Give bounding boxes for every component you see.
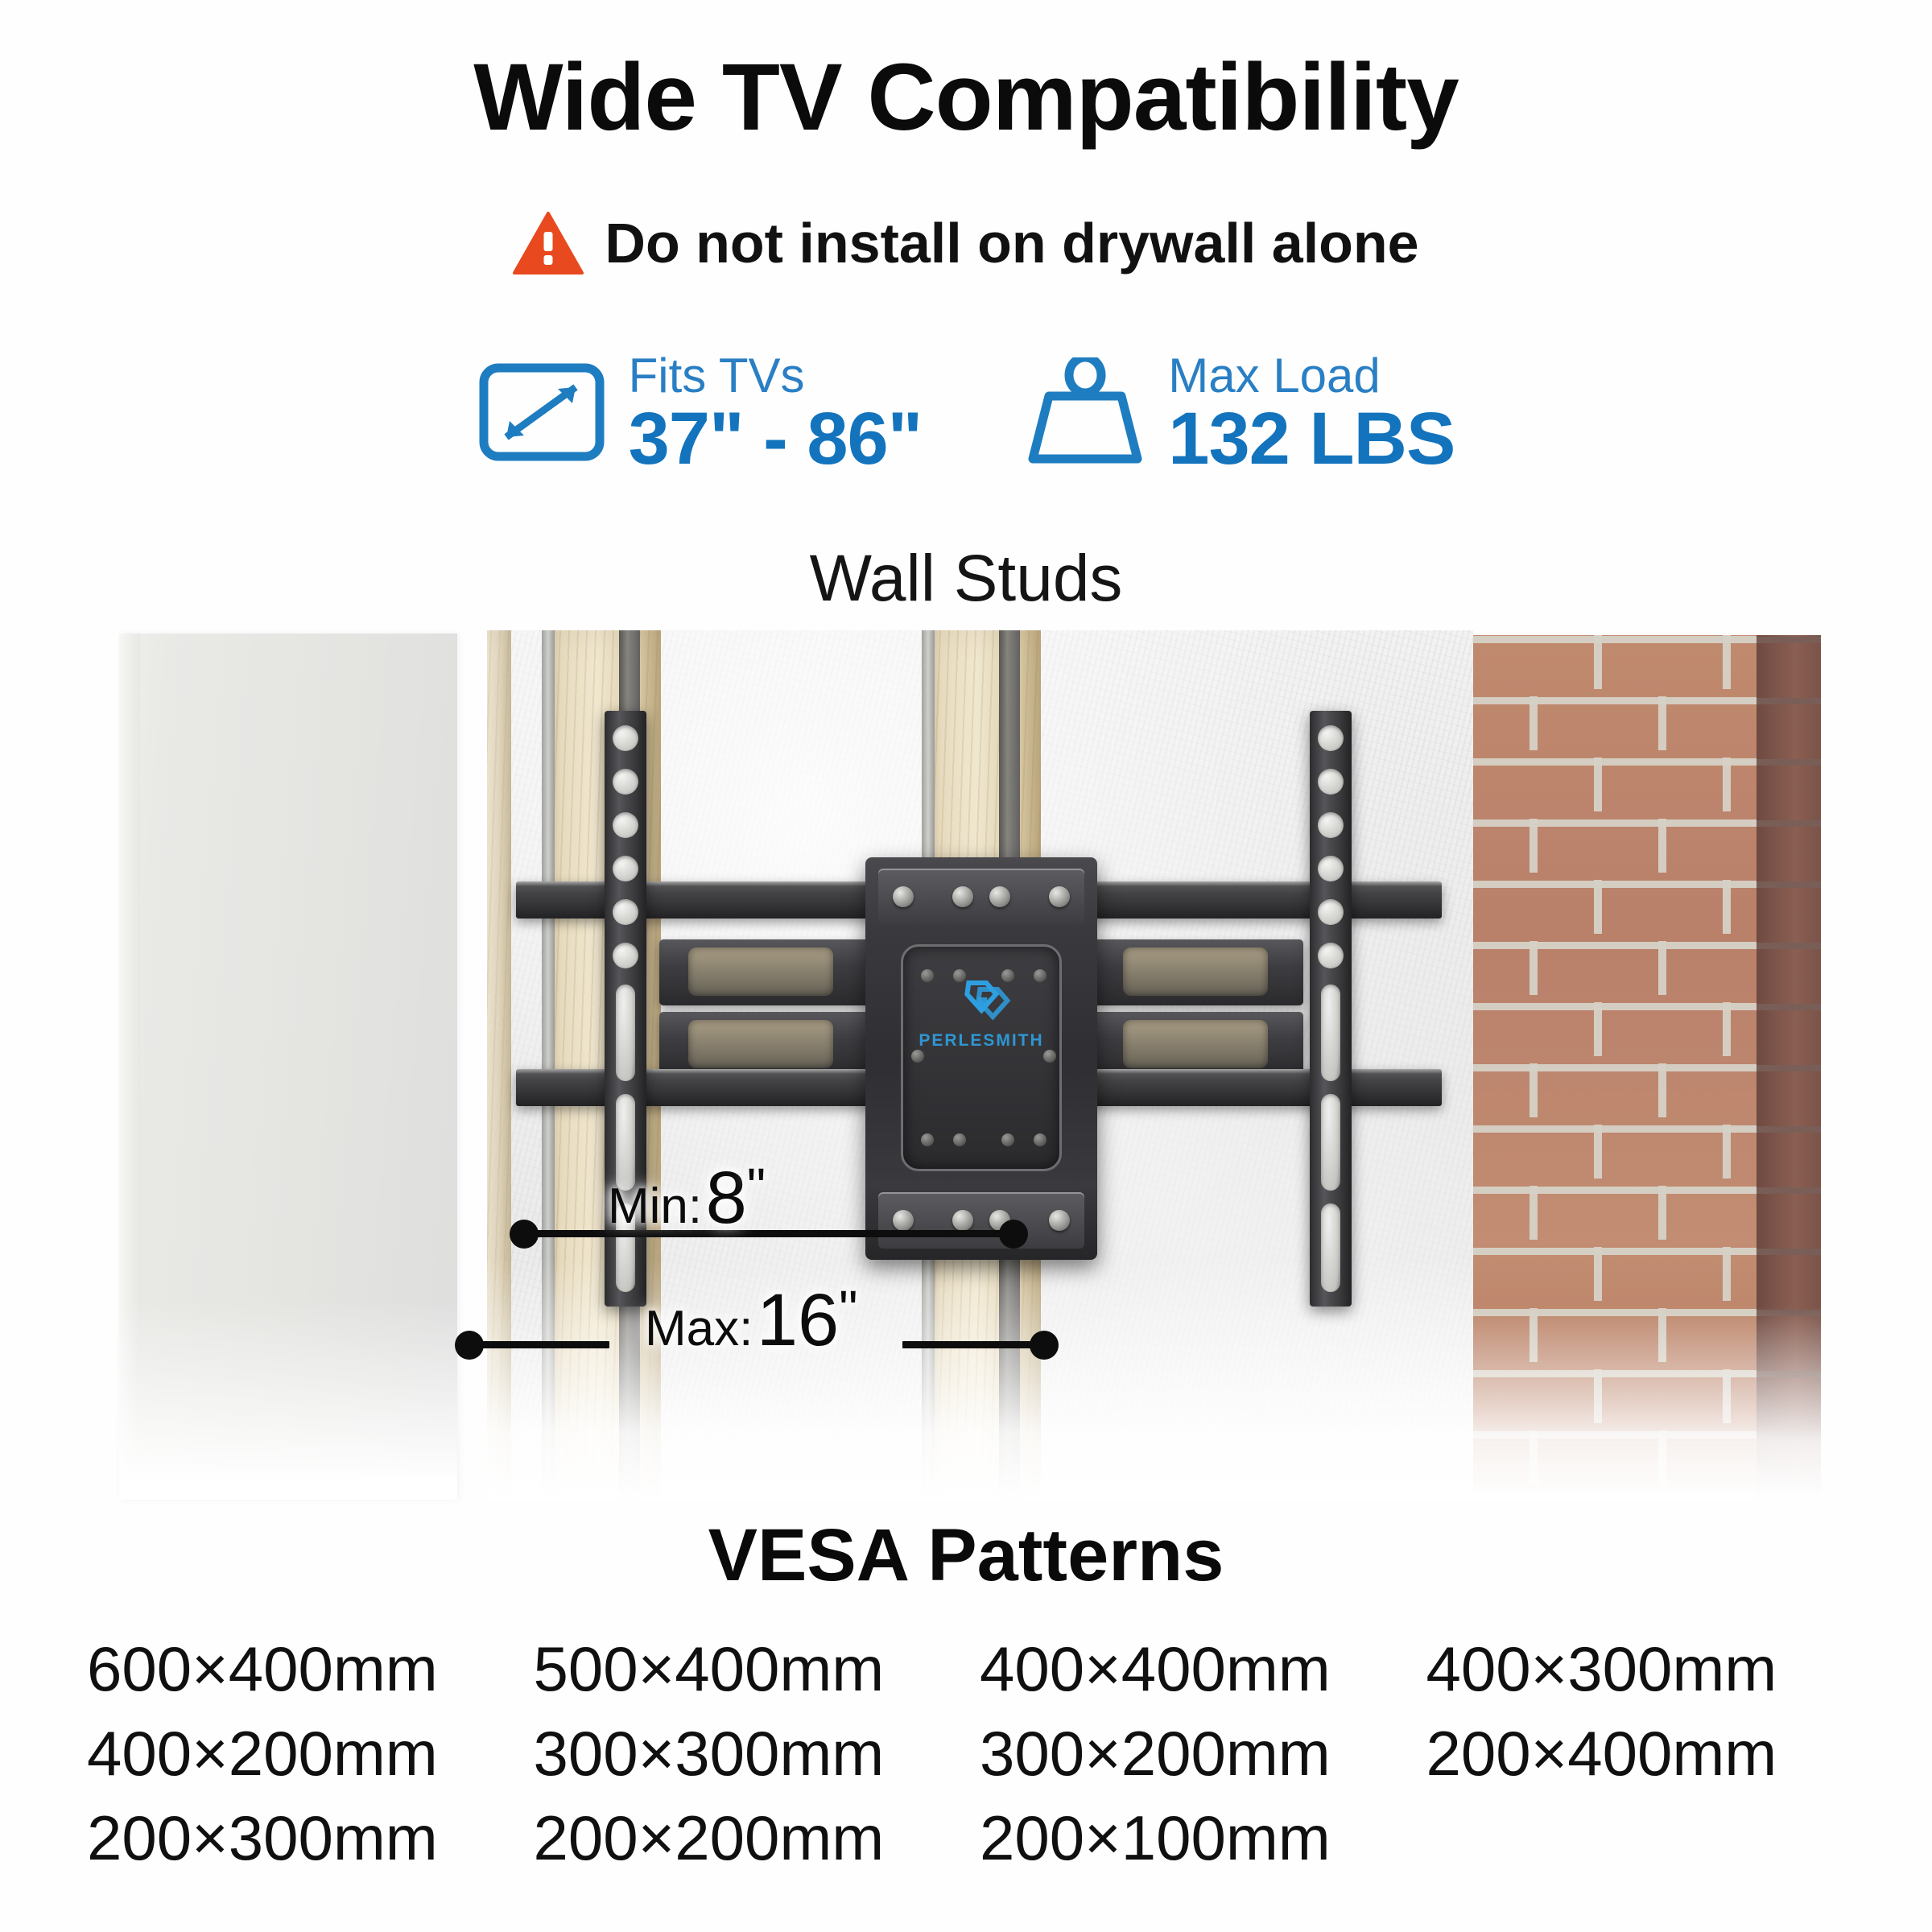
spec-max-load-label: Max Load (1168, 352, 1455, 400)
weight-icon (1025, 357, 1146, 470)
dimension-min-prefix: Min: (608, 1179, 702, 1234)
tv-mount-hardware: PERLESMITH Min: 8" Max: 16" (487, 630, 1473, 1500)
vesa-pattern-item: 200×200mm (534, 1802, 966, 1875)
drywall-panel (119, 634, 457, 1500)
tv-bracket-right (1310, 711, 1352, 1307)
screen-diagonal-icon (477, 360, 606, 469)
vesa-pattern-item: 200×300mm (87, 1802, 519, 1875)
vesa-pattern-item: 400×200mm (87, 1717, 519, 1790)
dimension-max-label: Max: 16" (645, 1278, 858, 1363)
spec-fits-tvs: Fits TVs 37" - 86" (477, 352, 923, 476)
vesa-section-title: VESA Patterns (0, 1513, 1932, 1598)
product-photo-band: PERLESMITH Min: 8" Max: 16" (0, 630, 1932, 1500)
warning-text: Do not install on drywall alone (605, 211, 1418, 275)
spec-max-load: Max Load 132 LBS (1025, 352, 1455, 476)
product-logo: PERLESMITH (919, 978, 1043, 1051)
spec-max-load-value: 132 LBS (1168, 402, 1455, 476)
page-title: Wide TV Compatibility (0, 48, 1932, 148)
dimension-min-label: Min: 8" (608, 1156, 766, 1241)
infographic-root: Wide TV Compatibility Do not install on … (0, 0, 1932, 1932)
spec-fits-tvs-value: 37" - 86" (629, 402, 923, 476)
vesa-pattern-grid: 600×400mm 500×400mm 400×400mm 400×300mm … (87, 1633, 1858, 1875)
dimension-max-value: 16 (757, 1279, 839, 1361)
warning-banner: Do not install on drywall alone (0, 211, 1932, 275)
spec-fits-tvs-label: Fits TVs (629, 352, 923, 400)
vesa-pattern-item: 400×400mm (980, 1633, 1412, 1706)
vesa-pattern-item: 300×300mm (534, 1717, 966, 1790)
dimension-max-prefix: Max: (645, 1301, 753, 1356)
wall-studs-caption: Wall Studs (0, 541, 1932, 617)
vesa-pattern-item: 400×300mm (1426, 1633, 1859, 1706)
brick-face (1473, 635, 1757, 1500)
spec-row: Fits TVs 37" - 86" Max Load 132 LBS (0, 352, 1932, 476)
vesa-pattern-item: 600×400mm (87, 1633, 519, 1706)
logo-wordmark: PERLESMITH (919, 1031, 1043, 1050)
warning-triangle-icon (513, 211, 584, 275)
vesa-pattern-item: 500×400mm (534, 1633, 966, 1706)
dimension-min-value: 8 (706, 1157, 747, 1239)
diamond-logo-icon (919, 978, 1043, 1031)
dimension-min-unit: " (747, 1157, 766, 1216)
vesa-pattern-item: 200×100mm (980, 1802, 1412, 1875)
center-wall-plate: PERLESMITH (865, 857, 1097, 1260)
brick-side-face (1757, 635, 1821, 1500)
brick-wall-panel (1473, 635, 1821, 1500)
dimension-max-unit: " (839, 1279, 857, 1339)
vesa-pattern-item: 200×400mm (1426, 1717, 1859, 1790)
vesa-pattern-item: 300×200mm (980, 1717, 1412, 1790)
